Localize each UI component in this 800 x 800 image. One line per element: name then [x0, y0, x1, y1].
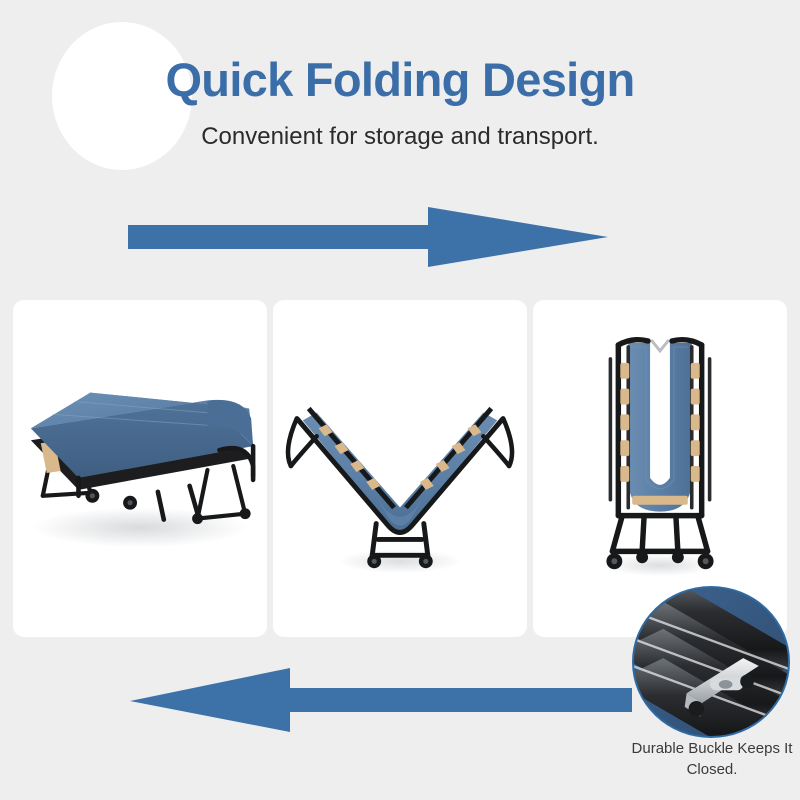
- panel-half-folded[interactable]: [273, 300, 527, 637]
- buckle-caption: Durable Buckle Keeps It Closed.: [614, 738, 800, 780]
- buckle-closeup-image: [632, 586, 790, 738]
- folding-bed-unfolded-illustration: [13, 300, 267, 637]
- infographic-root: Quick Folding Design Convenient for stor…: [0, 0, 800, 800]
- page-title: Quick Folding Design: [0, 50, 800, 110]
- panel-unfolded[interactable]: [13, 300, 267, 637]
- folding-bed-half-folded-illustration: [273, 300, 527, 637]
- reverse-arrow-icon: [130, 664, 632, 736]
- buckle-detail-inset: Durable Buckle Keeps It Closed.: [632, 586, 790, 738]
- forward-arrow-icon: [128, 203, 608, 271]
- page-subtitle: Convenient for storage and transport.: [0, 122, 800, 152]
